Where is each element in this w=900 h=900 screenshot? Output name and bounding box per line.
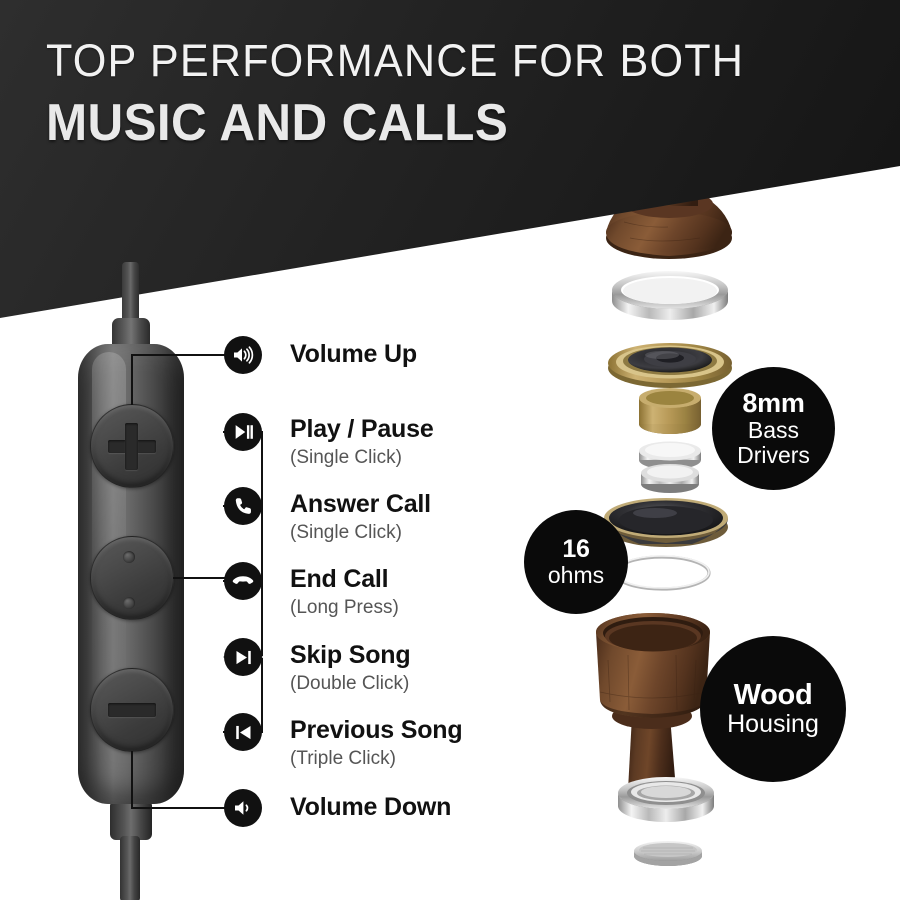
volume-down-glyph bbox=[231, 796, 255, 820]
badge-label: Housing bbox=[727, 711, 819, 739]
mic-dot-upper-icon bbox=[123, 551, 135, 563]
minus-icon bbox=[108, 703, 156, 717]
feature-row-end-call: End Call (Long Press) bbox=[290, 565, 399, 620]
wood-housing-badge: Wood Housing bbox=[700, 636, 846, 782]
wire-ring-part bbox=[615, 556, 709, 589]
impedance-badge: 16 ohms bbox=[524, 510, 628, 614]
feature-row-volume-up: Volume Up bbox=[290, 340, 417, 368]
badge-label-line-2: Drivers bbox=[737, 443, 810, 468]
previous-track-glyph bbox=[233, 722, 254, 743]
magnet-disc-lower-part bbox=[641, 464, 699, 493]
mesh-filter-bottom-part bbox=[634, 841, 702, 866]
feature-row-play-pause: Play / Pause (Single Click) bbox=[290, 415, 434, 470]
feature-title: Play / Pause bbox=[290, 415, 434, 443]
feature-row-previous-song: Previous Song (Triple Click) bbox=[290, 716, 462, 771]
feature-title: Answer Call bbox=[290, 490, 431, 518]
feature-subtitle: (Single Click) bbox=[290, 521, 431, 545]
cable-lower bbox=[120, 836, 140, 900]
bass-drivers-badge: 8mm Bass Drivers bbox=[712, 367, 835, 490]
badge-label-line-1: Bass bbox=[748, 418, 799, 443]
feature-subtitle: (Single Click) bbox=[290, 446, 434, 470]
feature-title: Volume Up bbox=[290, 340, 417, 368]
next-track-glyph bbox=[233, 647, 254, 668]
phone-down-glyph bbox=[231, 569, 255, 593]
answer-call-icon[interactable] bbox=[224, 487, 262, 525]
volume-down-icon[interactable] bbox=[224, 789, 262, 827]
badge-label: ohms bbox=[548, 563, 604, 588]
feature-row-skip-song: Skip Song (Double Click) bbox=[290, 641, 410, 696]
driver-diaphragm-part bbox=[608, 343, 732, 388]
brass-voice-coil-part bbox=[639, 388, 701, 434]
volume-up-icon[interactable] bbox=[224, 336, 262, 374]
badge-value: Wood bbox=[734, 680, 813, 711]
infographic-canvas: TOP PERFORMANCE FOR BOTH MUSIC AND CALLS bbox=[0, 0, 900, 900]
skip-song-icon[interactable] bbox=[224, 638, 262, 676]
feature-subtitle: (Long Press) bbox=[290, 596, 399, 620]
end-call-icon[interactable] bbox=[224, 562, 262, 600]
mic-dot-lower-icon bbox=[123, 597, 135, 609]
previous-song-icon[interactable] bbox=[224, 713, 262, 751]
feature-subtitle: (Double Click) bbox=[290, 672, 410, 696]
chrome-ring-upper-part bbox=[612, 271, 728, 320]
feature-title: Volume Down bbox=[290, 793, 451, 821]
chrome-cap-ring-part bbox=[618, 777, 714, 822]
phone-handset-glyph bbox=[233, 496, 254, 517]
badge-value: 16 bbox=[562, 536, 589, 563]
feature-title: Previous Song bbox=[290, 716, 462, 744]
feature-row-answer-call: Answer Call (Single Click) bbox=[290, 490, 431, 545]
play-pause-glyph bbox=[232, 421, 254, 443]
feature-title: End Call bbox=[290, 565, 399, 593]
volume-up-glyph bbox=[231, 343, 255, 367]
feature-subtitle: (Triple Click) bbox=[290, 747, 462, 771]
feature-row-volume-down: Volume Down bbox=[290, 793, 451, 821]
play-pause-icon[interactable] bbox=[224, 413, 262, 451]
plus-icon-vertical bbox=[125, 423, 138, 470]
wood-housing-cup-part bbox=[596, 613, 710, 800]
remote-collar-bottom bbox=[110, 800, 152, 840]
feature-title: Skip Song bbox=[290, 641, 410, 669]
badge-value: 8mm bbox=[742, 389, 804, 418]
